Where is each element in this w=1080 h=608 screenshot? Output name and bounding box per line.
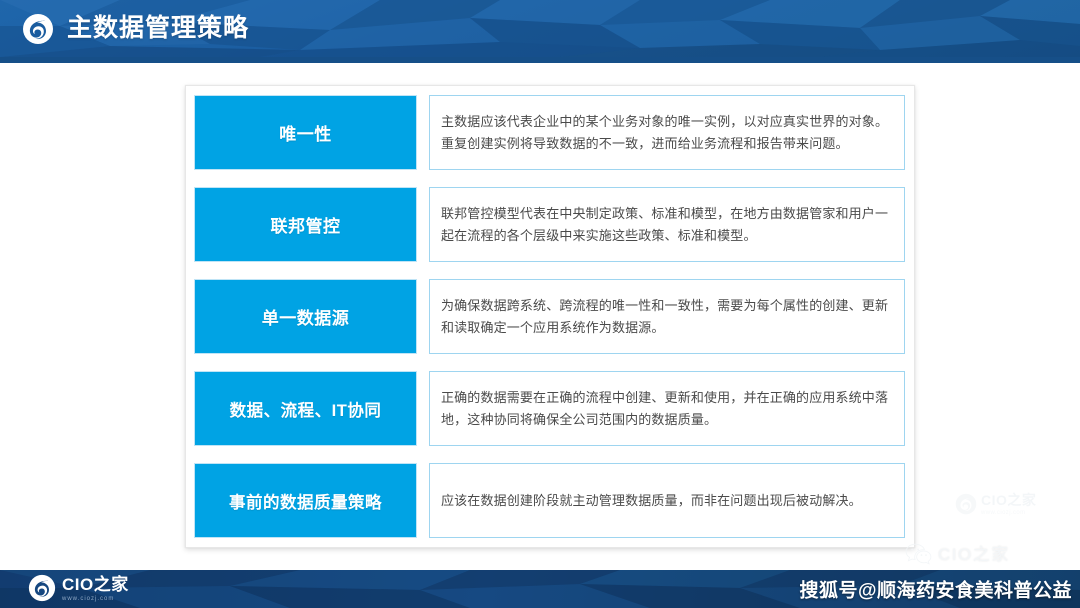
wechat-brand-watermark: CIO之家: [905, 542, 1010, 566]
table-row: 单一数据源 为确保数据跨系统、跨流程的唯一性和一致性，需要为每个属性的创建、更新…: [194, 279, 905, 354]
strategy-description-uniqueness: 主数据应该代表企业中的某个业务对象的唯一实例，以对应真实世界的对象。重复创建实例…: [429, 95, 905, 170]
row-spacer: [417, 187, 429, 262]
strategy-rows: 唯一性 主数据应该代表企业中的某个业务对象的唯一实例，以对应真实世界的对象。重复…: [194, 95, 905, 538]
row-spacer: [417, 279, 429, 354]
strategy-label-proactive-data-quality[interactable]: 事前的数据质量策略: [194, 463, 417, 538]
strategy-description-data-process-it-alignment: 正确的数据需要在正确的流程中创建、更新和使用，并在正确的应用系统中落地，这种协同…: [429, 371, 905, 446]
table-row: 联邦管控 联邦管控模型代表在中央制定政策、标准和模型，在地方由数据管家和用户一起…: [194, 187, 905, 262]
table-row: 唯一性 主数据应该代表企业中的某个业务对象的唯一实例，以对应真实世界的对象。重复…: [194, 95, 905, 170]
wechat-watermark-brand: CIO之家: [938, 546, 1010, 563]
strategy-label-uniqueness[interactable]: 唯一性: [194, 95, 417, 170]
footer-brand-url: www.ciozj.com: [62, 596, 129, 602]
faint-brand-watermark: CIO之家 www.ciozj.com: [955, 487, 1075, 521]
slide-canvas: 主数据管理策略 CIO之家 www.ciozj.com 唯一性 主数据应该代表企…: [0, 0, 1080, 608]
strategy-description-single-source: 为确保数据跨系统、跨流程的唯一性和一致性，需要为每个属性的创建、更新和读取确定一…: [429, 279, 905, 354]
brand-spiral-icon: [22, 13, 54, 45]
spiral-swirl-icon: [28, 574, 56, 602]
strategy-label-data-process-it-alignment[interactable]: 数据、流程、IT协同: [194, 371, 417, 446]
table-row: 事前的数据质量策略 应该在数据创建阶段就主动管理数据质量，而非在问题出现后被动解…: [194, 463, 905, 538]
footer-brand-name: CIO之家: [62, 576, 129, 593]
page-title: 主数据管理策略: [67, 16, 249, 41]
strategy-label-single-source[interactable]: 单一数据源: [194, 279, 417, 354]
row-spacer: [417, 463, 429, 538]
row-spacer: [417, 371, 429, 446]
faint-watermark-brand: CIO之家: [981, 493, 1036, 507]
faint-watermark-url: www.ciozj.com: [981, 510, 1036, 516]
footer-brand-logo: CIO之家 www.ciozj.com: [28, 574, 129, 602]
strategy-label-federated-governance[interactable]: 联邦管控: [194, 187, 417, 262]
slide-footer: CIO之家 www.ciozj.com 搜狐号@顺海药安食美科普公益: [0, 570, 1080, 608]
slide-header: 主数据管理策略: [0, 0, 1080, 57]
table-row: 数据、流程、IT协同 正确的数据需要在正确的流程中创建、更新和使用，并在正确的应…: [194, 371, 905, 446]
strategy-description-proactive-data-quality: 应该在数据创建阶段就主动管理数据质量，而非在问题出现后被动解决。: [429, 463, 905, 538]
footer-source-watermark: 搜狐号@顺海药安食美科普公益: [799, 576, 1072, 603]
wechat-icon: [905, 542, 932, 566]
header-divider: [0, 57, 1080, 63]
strategy-table-card: 唯一性 主数据应该代表企业中的某个业务对象的唯一实例，以对应真实世界的对象。重复…: [185, 85, 915, 548]
spiral-swirl-icon: [955, 493, 977, 515]
strategy-description-federated-governance: 联邦管控模型代表在中央制定政策、标准和模型，在地方由数据管家和用户一起在流程的各…: [429, 187, 905, 262]
row-spacer: [417, 95, 429, 170]
